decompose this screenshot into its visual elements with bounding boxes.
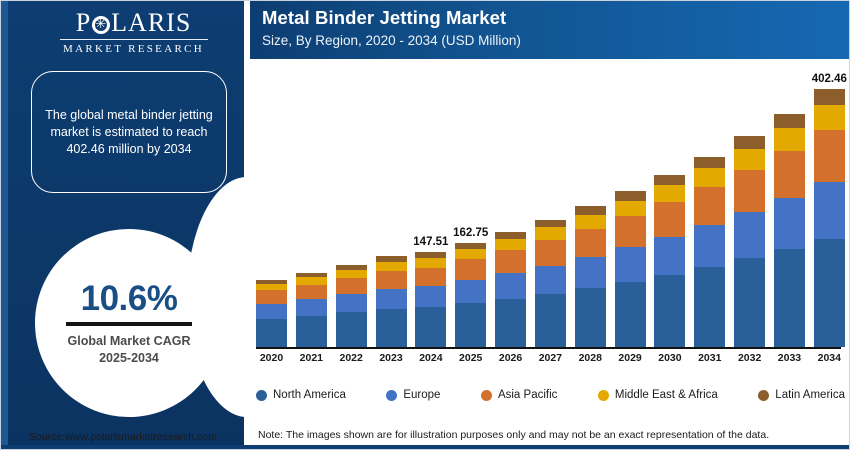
x-axis-tick: 2029 xyxy=(615,352,646,364)
legend-label: Asia Pacific xyxy=(498,389,557,401)
bar-segment xyxy=(336,278,367,294)
note-text: Note: The images shown are for illustrat… xyxy=(258,429,769,441)
logo-divider xyxy=(60,39,208,40)
legend-label: North America xyxy=(273,389,346,401)
bar-segment xyxy=(694,225,725,267)
cagr-value: 10.6% xyxy=(81,279,178,319)
infographic-page: PLARIS MARKET RESEARCH The global metal … xyxy=(0,0,850,450)
logo-text-before: P xyxy=(76,8,91,37)
bar-segment xyxy=(256,284,287,291)
cagr-circle: 10.6% Global Market CAGR 2025-2034 xyxy=(35,229,223,417)
bar-segment xyxy=(376,309,407,347)
page-title: Metal Binder Jetting Market xyxy=(262,7,506,29)
legend-label: Latin America xyxy=(775,389,845,401)
bar-column xyxy=(495,67,526,347)
legend-color-dot xyxy=(598,390,609,401)
bar-segment xyxy=(774,249,805,347)
bar-segment xyxy=(814,105,845,131)
bar-segment xyxy=(336,294,367,312)
x-axis-tick: 2025 xyxy=(455,352,486,364)
bar-segment xyxy=(734,258,765,347)
bar-segment xyxy=(495,232,526,239)
left-panel: PLARIS MARKET RESEARCH The global metal … xyxy=(1,1,250,450)
bar-segment xyxy=(694,187,725,225)
logo-text-after: LARIS xyxy=(111,8,191,37)
bar-segment xyxy=(256,319,287,347)
legend-color-dot xyxy=(386,390,397,401)
bar-segment xyxy=(575,288,606,347)
bar-segment xyxy=(296,316,327,347)
bar-segment xyxy=(455,280,486,303)
bar-segment xyxy=(774,128,805,151)
bar-segment xyxy=(694,267,725,347)
bar-segment xyxy=(814,182,845,239)
bar-segment xyxy=(774,151,805,198)
callout-box: The global metal binder jetting market i… xyxy=(31,71,227,193)
bar-segment xyxy=(814,89,845,104)
panel-accent-stripe xyxy=(1,1,8,450)
bar-segment xyxy=(814,239,845,347)
bar-segment xyxy=(615,201,646,217)
stacked-bar-chart: 147.51162.75402.46 xyxy=(256,67,845,347)
x-axis-tick: 2028 xyxy=(575,352,606,364)
chart-legend: North AmericaEuropeAsia PacificMiddle Ea… xyxy=(256,384,845,406)
x-axis-tick: 2033 xyxy=(774,352,805,364)
x-axis-line xyxy=(256,347,841,349)
bottom-rule xyxy=(1,445,850,450)
chart-area: 147.51162.75402.46 202020212022202320242… xyxy=(250,59,850,450)
callout-text: The global metal binder jetting market i… xyxy=(32,107,226,158)
x-axis-tick: 2031 xyxy=(694,352,725,364)
bar-segment xyxy=(654,185,685,202)
bar-column: 402.46 xyxy=(814,67,845,347)
bar-segment xyxy=(495,250,526,273)
bar-value-label: 402.46 xyxy=(812,73,847,85)
bar-segment xyxy=(336,312,367,347)
bar-segment xyxy=(535,227,566,240)
bar-segment xyxy=(575,229,606,257)
bar-segment xyxy=(575,206,606,214)
bar-segment xyxy=(734,149,765,170)
bar-column xyxy=(376,67,407,347)
bar-value-label: 162.75 xyxy=(453,227,488,239)
cagr-divider xyxy=(66,322,192,326)
bar-column xyxy=(615,67,646,347)
bar-segment xyxy=(296,277,327,284)
logo-wordmark: PLARIS xyxy=(41,9,226,37)
star-icon xyxy=(92,16,110,34)
bar-segment xyxy=(296,285,327,300)
bar-segment xyxy=(654,275,685,347)
bar-segment xyxy=(615,216,646,247)
x-axis-labels: 2020202120222023202420252026202720282029… xyxy=(256,352,845,364)
x-axis-tick: 2032 xyxy=(734,352,765,364)
x-axis-tick: 2022 xyxy=(336,352,367,364)
bar-segment xyxy=(495,299,526,347)
legend-label: Europe xyxy=(403,389,440,401)
bar-segment xyxy=(734,170,765,212)
legend-item[interactable]: Latin America xyxy=(758,389,845,401)
bar-segment xyxy=(455,259,486,280)
bar-segment xyxy=(256,290,287,303)
cagr-years: 2025-2034 xyxy=(99,350,159,367)
bar-segment xyxy=(535,294,566,347)
bar-segment xyxy=(615,247,646,281)
x-axis-tick: 2020 xyxy=(256,352,287,364)
x-axis-tick: 2027 xyxy=(535,352,566,364)
legend-color-dot xyxy=(758,390,769,401)
x-axis-tick: 2026 xyxy=(495,352,526,364)
bar-segment xyxy=(495,239,526,251)
x-axis-tick: 2024 xyxy=(415,352,446,364)
cagr-label: Global Market CAGR xyxy=(68,333,191,350)
bar-segment xyxy=(774,114,805,128)
bar-segment xyxy=(415,258,446,267)
bar-column xyxy=(256,67,287,347)
bar-segment xyxy=(535,220,566,228)
bar-column xyxy=(734,67,765,347)
bar-segment xyxy=(694,157,725,168)
bar-segment xyxy=(575,257,606,288)
polaris-logo: PLARIS MARKET RESEARCH xyxy=(41,9,226,57)
bar-segment xyxy=(734,136,765,149)
bar-segment xyxy=(495,273,526,298)
bar-segment xyxy=(376,262,407,271)
bar-segment xyxy=(654,202,685,236)
bar-segment xyxy=(734,212,765,258)
logo-tagline: MARKET RESEARCH xyxy=(41,43,226,55)
bar-segment xyxy=(415,268,446,287)
bar-column xyxy=(535,67,566,347)
bar-segment xyxy=(256,304,287,319)
header-bar: Metal Binder Jetting Market Size, By Reg… xyxy=(250,1,850,59)
bar-segment xyxy=(415,286,446,307)
bar-segment xyxy=(615,282,646,347)
bar-column xyxy=(654,67,685,347)
bar-column xyxy=(296,67,327,347)
legend-item[interactable]: North America xyxy=(256,389,346,401)
x-axis-tick: 2030 xyxy=(654,352,685,364)
bar-column xyxy=(774,67,805,347)
bar-column: 162.75 xyxy=(455,67,486,347)
bar-segment xyxy=(455,303,486,347)
bar-column: 147.51 xyxy=(415,67,446,347)
x-axis-tick: 2021 xyxy=(296,352,327,364)
bar-value-label: 147.51 xyxy=(413,236,448,248)
x-axis-tick: 2034 xyxy=(814,352,845,364)
legend-label: Middle East & Africa xyxy=(615,389,718,401)
bar-segment xyxy=(694,168,725,187)
bar-segment xyxy=(535,240,566,265)
bar-segment xyxy=(575,215,606,229)
bar-segment xyxy=(774,198,805,249)
bar-column xyxy=(575,67,606,347)
x-axis-tick: 2023 xyxy=(376,352,407,364)
bar-segment xyxy=(336,270,367,278)
bar-segment xyxy=(455,249,486,259)
bar-segment xyxy=(415,307,446,347)
bar-segment xyxy=(535,266,566,294)
bar-segment xyxy=(376,271,407,289)
legend-color-dot xyxy=(481,390,492,401)
page-subtitle: Size, By Region, 2020 - 2034 (USD Millio… xyxy=(262,33,521,48)
bar-segment xyxy=(654,175,685,185)
legend-item[interactable]: Europe xyxy=(386,389,440,401)
bar-column xyxy=(336,67,367,347)
bar-segment xyxy=(376,289,407,309)
bar-segment xyxy=(615,191,646,200)
legend-color-dot xyxy=(256,390,267,401)
bar-segment xyxy=(296,299,327,315)
legend-item[interactable]: Asia Pacific xyxy=(481,389,557,401)
legend-item[interactable]: Middle East & Africa xyxy=(598,389,718,401)
source-text: Source:www.polarismarketresearch.com xyxy=(29,431,217,443)
bar-segment xyxy=(654,237,685,275)
bar-segment xyxy=(814,130,845,182)
bar-column xyxy=(694,67,725,347)
